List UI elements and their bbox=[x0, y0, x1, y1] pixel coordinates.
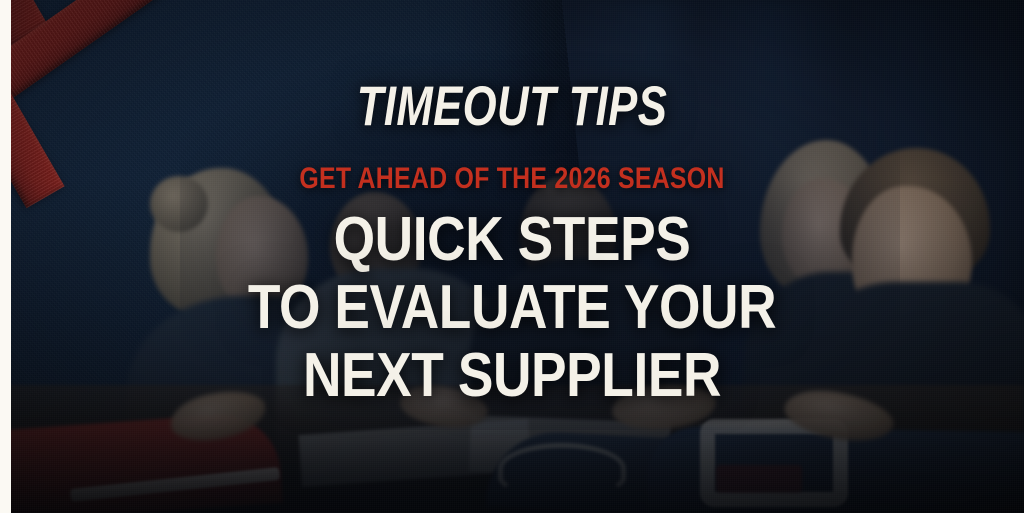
promo-banner: TIMEOUT TIPS GET AHEAD OF THE 2026 SEASO… bbox=[0, 0, 1024, 513]
headline-line-3: NEXT SUPPLIER bbox=[72, 342, 953, 410]
left-edge-strip bbox=[0, 0, 11, 513]
headline: QUICK STEPS TO EVALUATE YOUR NEXT SUPPLI… bbox=[72, 206, 953, 410]
eyebrow-title: TIMEOUT TIPS bbox=[113, 78, 912, 134]
headline-line-2: TO EVALUATE YOUR bbox=[72, 274, 953, 342]
kicker-subtitle: GET AHEAD OF THE 2026 SEASON bbox=[87, 164, 937, 194]
headline-line-1: QUICK STEPS bbox=[72, 206, 953, 274]
